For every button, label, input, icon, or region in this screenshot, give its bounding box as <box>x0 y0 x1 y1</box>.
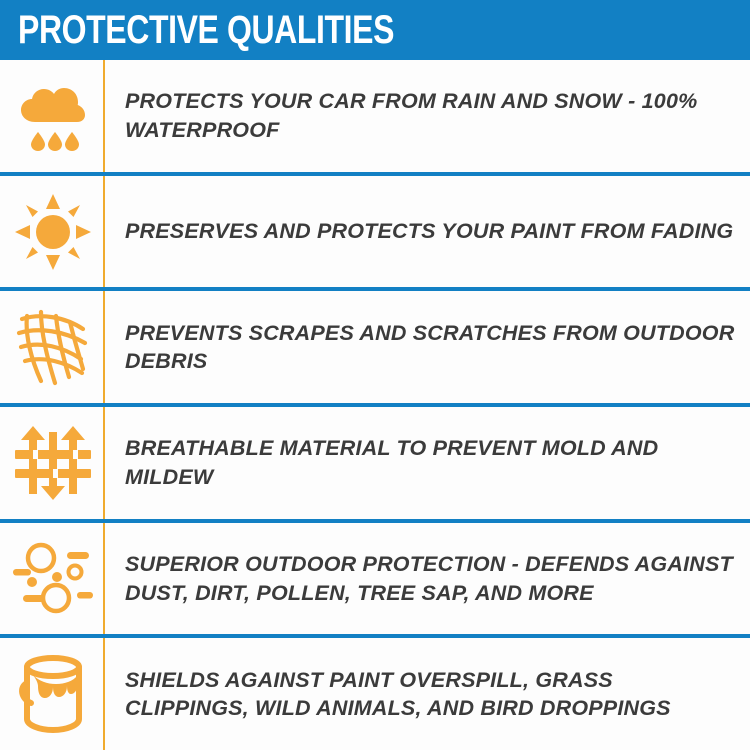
rain-cloud-icon <box>13 76 93 156</box>
sun-icon <box>13 192 93 272</box>
paint-can-icon <box>13 653 93 735</box>
feature-text: PREVENTS SCRAPES AND SCRATCHES FROM OUTD… <box>125 319 736 376</box>
text-cell: SHIELDS AGAINST PAINT OVERSPILL, GRASS C… <box>105 638 750 750</box>
feature-row: PRESERVES AND PROTECTS YOUR PAINT FROM F… <box>0 172 750 288</box>
page-title: PROTECTIVE QUALITIES <box>18 10 394 50</box>
feature-text: PROTECTS YOUR CAR FROM RAIN AND SNOW - 1… <box>125 87 736 144</box>
dust-particles-icon <box>11 540 95 618</box>
icon-cell <box>0 523 105 635</box>
feature-text: SHIELDS AGAINST PAINT OVERSPILL, GRASS C… <box>125 666 736 723</box>
header-bar: PROTECTIVE QUALITIES <box>0 0 750 60</box>
text-cell: PREVENTS SCRAPES AND SCRATCHES FROM OUTD… <box>105 291 750 403</box>
feature-text: SUPERIOR OUTDOOR PROTECTION - DEFENDS AG… <box>125 550 736 607</box>
icon-cell <box>0 60 105 172</box>
icon-cell <box>0 176 105 288</box>
feature-row: SUPERIOR OUTDOOR PROTECTION - DEFENDS AG… <box>0 519 750 635</box>
scratch-net-icon <box>11 303 95 391</box>
feature-row: PROTECTS YOUR CAR FROM RAIN AND SNOW - 1… <box>0 60 750 172</box>
icon-cell <box>0 407 105 519</box>
icon-cell <box>0 638 105 750</box>
text-cell: BREATHABLE MATERIAL TO PREVENT MOLD AND … <box>105 407 750 519</box>
feature-row: BREATHABLE MATERIAL TO PREVENT MOLD AND … <box>0 403 750 519</box>
feature-list: PROTECTS YOUR CAR FROM RAIN AND SNOW - 1… <box>0 60 750 750</box>
protective-qualities-infographic: PROTECTIVE QUALITIES PRO <box>0 0 750 750</box>
feature-row: SHIELDS AGAINST PAINT OVERSPILL, GRASS C… <box>0 634 750 750</box>
text-cell: PROTECTS YOUR CAR FROM RAIN AND SNOW - 1… <box>105 60 750 172</box>
text-cell: SUPERIOR OUTDOOR PROTECTION - DEFENDS AG… <box>105 523 750 635</box>
text-cell: PRESERVES AND PROTECTS YOUR PAINT FROM F… <box>105 176 750 288</box>
breathable-airflow-icon <box>12 422 94 504</box>
feature-row: PREVENTS SCRAPES AND SCRATCHES FROM OUTD… <box>0 287 750 403</box>
feature-text: BREATHABLE MATERIAL TO PREVENT MOLD AND … <box>125 434 736 491</box>
feature-text: PRESERVES AND PROTECTS YOUR PAINT FROM F… <box>125 217 733 245</box>
icon-cell <box>0 291 105 403</box>
